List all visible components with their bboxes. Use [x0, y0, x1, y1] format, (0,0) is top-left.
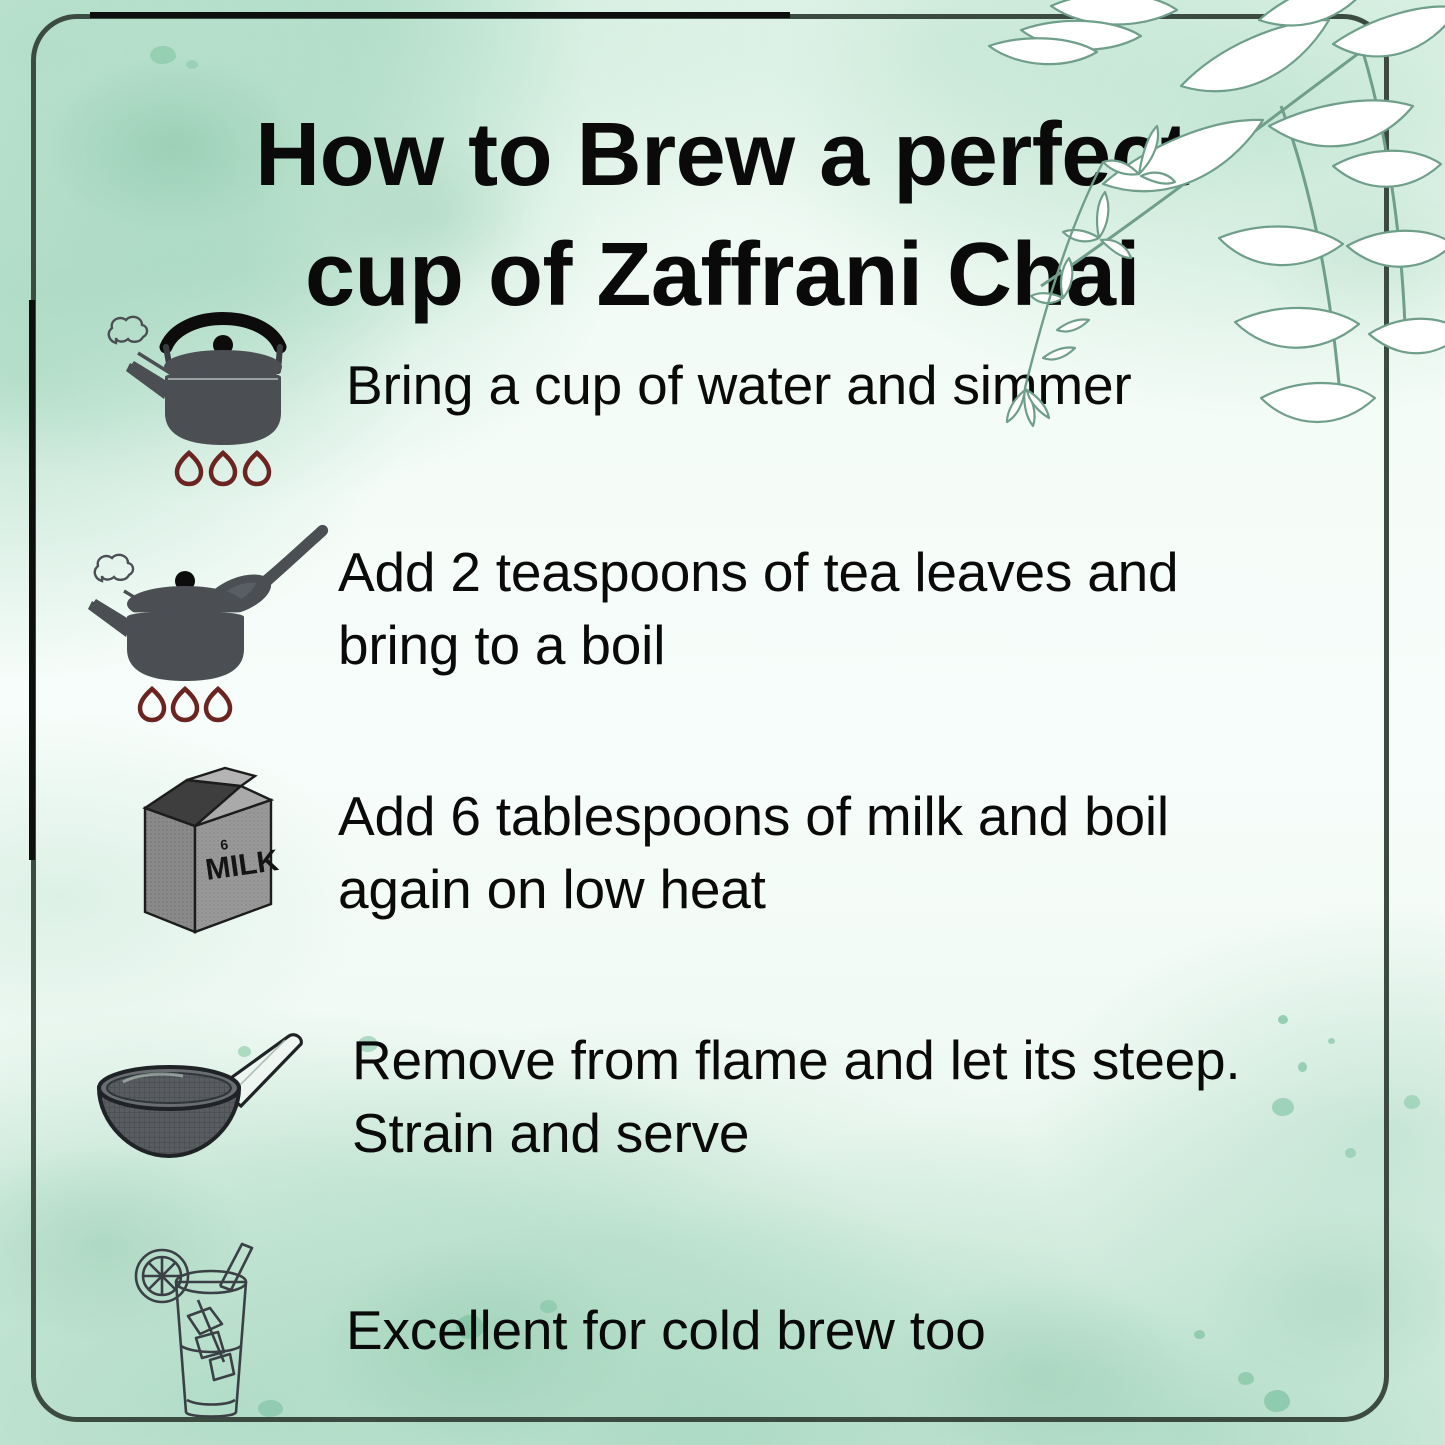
list-item-label: Remove from flame and let its steep. Str… — [338, 1024, 1282, 1170]
poster-frame-left-accent — [29, 300, 35, 860]
page-title-line-1: How to Brew a perfect — [0, 96, 1445, 216]
list-item-label: Excellent for cold brew too — [338, 1294, 986, 1367]
list-item: MILK 6 Add 6 tablespoons of milk and boi… — [80, 748, 1340, 958]
kettle-on-flame-icon — [80, 291, 338, 481]
list-item-label: Add 2 teaspoons of tea leaves and bring … — [338, 536, 1268, 682]
list-item-label: Bring a cup of water and simmer — [338, 349, 1132, 422]
paint-speckle — [1345, 1148, 1356, 1158]
paint-speckle — [1404, 1095, 1420, 1109]
paint-speckle — [150, 46, 176, 64]
milk-carton-icon: MILK 6 — [80, 764, 338, 942]
iced-drink-glass-icon — [80, 1234, 338, 1429]
kettle-with-spoon-icon — [80, 509, 338, 709]
paint-speckle — [186, 60, 198, 69]
tea-strainer-icon — [80, 1022, 338, 1172]
list-item-label: Add 6 tablespoons of milk and boil again… — [338, 780, 1268, 926]
list-item: Remove from flame and let its steep. Str… — [80, 992, 1340, 1202]
poster-frame-top-accent — [90, 12, 790, 18]
list-item: Bring a cup of water and simmer — [80, 286, 1340, 486]
poster-root: How to Brew a perfect cup of Zaffrani Ch… — [0, 0, 1445, 1445]
list-item: Excellent for cold brew too — [80, 1226, 1340, 1436]
list-item: Add 2 teaspoons of tea leaves and bring … — [80, 504, 1340, 714]
